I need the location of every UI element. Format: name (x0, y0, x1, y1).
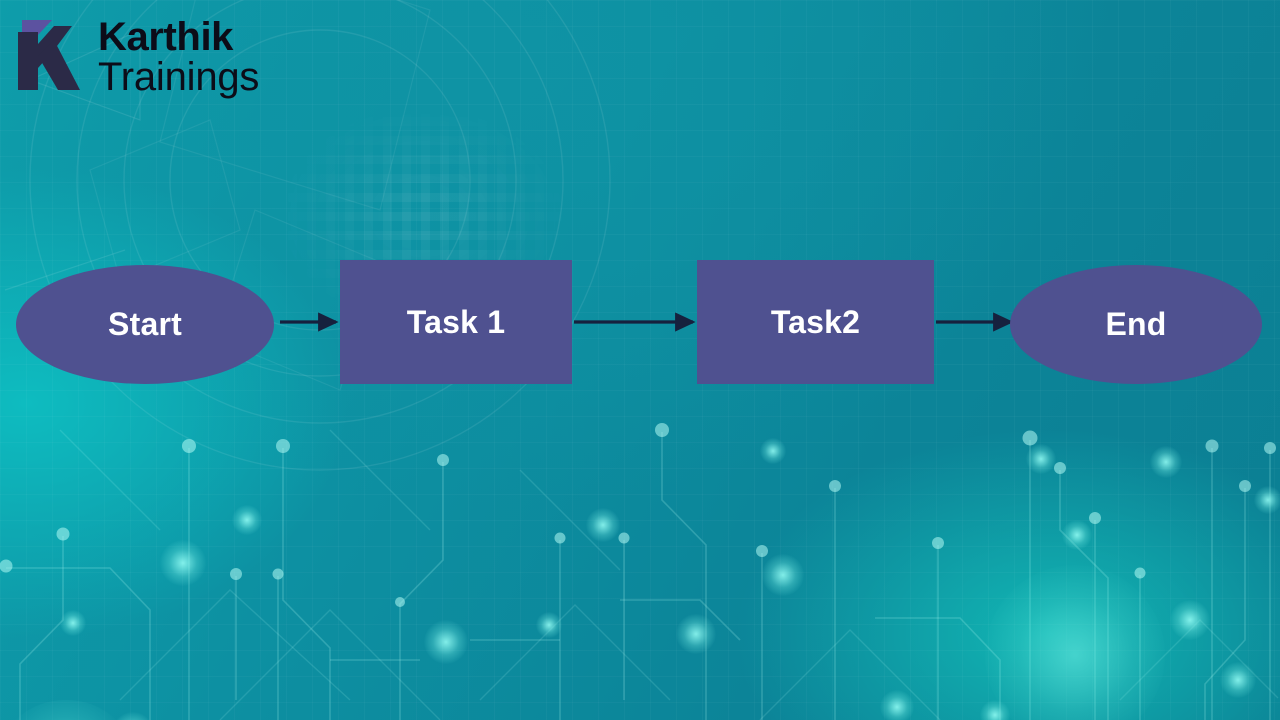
flow-node-end-label: End (1105, 306, 1166, 343)
slide-canvas: Karthik Trainings Start Task 1 Task2 (0, 0, 1280, 720)
flow-node-start[interactable]: Start (16, 265, 274, 384)
flow-node-start-label: Start (108, 306, 182, 343)
flow-node-task1[interactable]: Task 1 (340, 260, 572, 384)
flowchart: Start Task 1 Task2 End (0, 0, 1280, 720)
flow-node-task2[interactable]: Task2 (697, 260, 934, 384)
flow-node-task1-label: Task 1 (407, 304, 505, 341)
flow-node-end[interactable]: End (1010, 265, 1262, 384)
flow-node-task2-label: Task2 (771, 304, 860, 341)
